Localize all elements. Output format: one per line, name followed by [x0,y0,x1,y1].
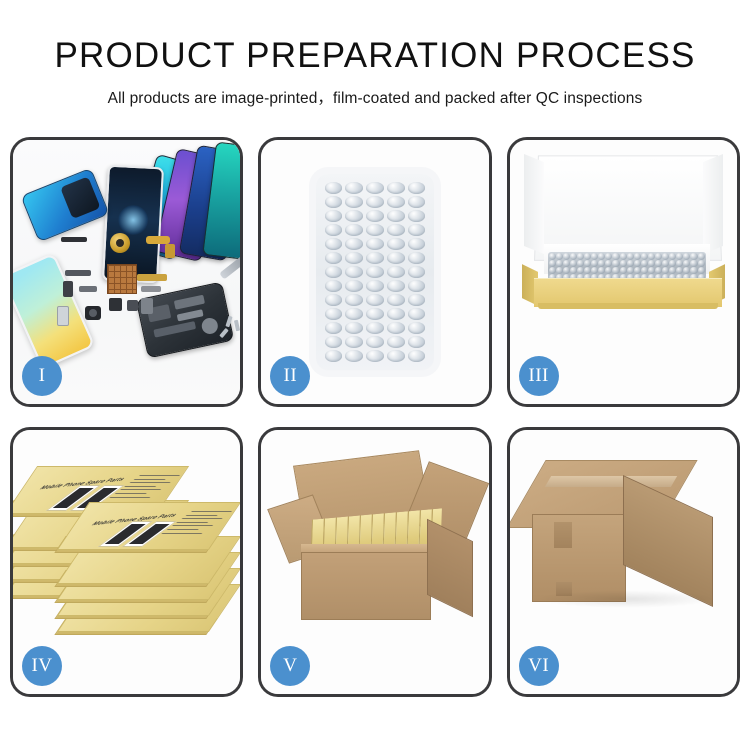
bubble-icon [365,209,386,223]
bubble-icon [385,293,406,307]
copper-mesh-part-icon [107,264,137,294]
carton-left-face-icon [532,514,626,602]
bubble-icon [365,251,386,265]
bubble-icon [627,267,634,274]
bubble-icon [406,251,427,265]
bubble-icon [549,260,556,267]
connector-part-icon [165,244,175,258]
bubble-icon [605,260,612,267]
bubble-icon [385,251,406,265]
sim-tray-part-icon [57,306,69,326]
product-preparation-infographic: PRODUCT PREPARATION PROCESS All products… [0,0,750,750]
bubble-icon [385,335,406,349]
bubble-icon [323,279,344,293]
bubble-icon [406,335,427,349]
bubble-icon [641,253,648,260]
antenna-part-icon [79,286,97,292]
bubble-icon [549,253,556,260]
bubble-icon [344,321,365,335]
chip-part-icon [109,298,122,311]
speaker-part-icon [61,237,87,242]
bubble-icon [323,321,344,335]
bubble-icon [365,307,386,321]
bubble-icon [365,223,386,237]
bubble-icon [556,260,563,267]
bubble-grid [323,181,427,363]
coil-part-icon [110,233,130,253]
bubble-icon [662,267,669,274]
bubble-icon [627,260,634,267]
flex-cable-part-icon [146,236,170,244]
bubble-icon [365,195,386,209]
bubble-icon [323,265,344,279]
bubble-icon [577,260,584,267]
bubble-icon [385,223,406,237]
bubble-icon [605,253,612,260]
process-step-panel-1: I [10,137,243,407]
bubble-icon [584,260,591,267]
bubble-icon [683,267,690,274]
bubble-icon [365,321,386,335]
bubble-icon [669,260,676,267]
page-title: PRODUCT PREPARATION PROCESS [0,0,750,75]
bubble-icon [323,307,344,321]
process-step-grid: I II [10,137,740,697]
camera-part-icon [85,306,101,320]
bubble-icon [323,209,344,223]
bubble-icon [669,267,676,274]
bubble-icon [620,253,627,260]
bubble-bundle-grid [549,253,705,281]
box-lid-right-flap-icon [703,154,723,254]
box-lid-left-flap-icon [524,154,544,254]
bubble-icon [620,260,627,267]
bubble-icon [556,253,563,260]
bubble-icon [365,335,386,349]
bubble-icon [669,253,676,260]
bubble-icon [323,335,344,349]
bubble-icon [549,267,556,274]
bubble-icon [563,267,570,274]
bubble-icon [406,181,427,195]
bubble-icon [570,267,577,274]
bubble-icon [385,195,406,209]
cable-part-icon [65,270,91,276]
flex-cable-long-part-icon [137,274,167,281]
bubble-icon [563,260,570,267]
box-bottom-edge-icon [538,303,718,309]
bubble-icon [406,349,427,363]
bubble-icon [323,223,344,237]
bubble-icon [570,253,577,260]
bubble-icon [344,223,365,237]
bubble-icon [676,260,683,267]
bubble-icon [598,260,605,267]
bubble-icon [323,181,344,195]
sealed-carton-icon [526,460,718,624]
bubble-icon [323,251,344,265]
bubble-icon [648,267,655,274]
carton-shadow [536,590,716,608]
bubble-icon [323,293,344,307]
bubble-icon [323,237,344,251]
bubble-icon [406,195,427,209]
bracket-part-icon [63,281,73,297]
bubble-icon [577,267,584,274]
bubble-icon [662,260,669,267]
bubble-icon [385,265,406,279]
bubble-icon [641,267,648,274]
bubble-icon [570,260,577,267]
bubble-icon [344,307,365,321]
bubble-icon [612,260,619,267]
process-step-panel-4: Mobile Phone Spare PartsMobile Phone Spa… [10,427,243,697]
bubble-icon [344,265,365,279]
module-part-icon [127,300,138,311]
bubble-icon [365,181,386,195]
step-badge-6: VI [519,646,559,686]
bubble-icon [344,195,365,209]
bubble-icon [385,307,406,321]
bubble-icon [406,279,427,293]
bubble-icon [556,267,563,274]
bubble-icon [612,267,619,274]
bubble-icon [690,267,697,274]
bubble-icon [605,267,612,274]
bubble-icon [344,279,365,293]
process-step-panel-6: VI [507,427,740,697]
bubble-icon [655,260,662,267]
bubble-icon [690,260,697,267]
process-step-panel-3: III [507,137,740,407]
bubble-icon [612,253,619,260]
bubble-icon [655,267,662,274]
bubble-icon [323,349,344,363]
bubble-icon [385,181,406,195]
bubble-icon [385,209,406,223]
ribbon-part-icon [141,286,161,292]
bubble-icon [406,223,427,237]
bubble-icon [406,293,427,307]
bubble-icon [344,181,365,195]
bubble-icon [406,265,427,279]
process-step-panel-2: II [258,137,491,407]
bubble-icon [365,279,386,293]
bubble-icon [584,253,591,260]
bubble-icon [406,237,427,251]
bubble-icon [634,267,641,274]
bubble-icon [698,260,705,267]
bubble-icon [683,260,690,267]
bubble-icon [591,253,598,260]
bubble-icon [385,321,406,335]
process-step-panel-5: V [258,427,491,697]
tape-strip-upper-icon [554,522,572,548]
step-badge-1: I [22,356,62,396]
bubble-icon [563,253,570,260]
bubble-icon [655,253,662,260]
open-carton-icon [275,456,471,628]
bubble-icon [385,349,406,363]
carton-front-face-icon [301,552,431,620]
bubble-icon [365,349,386,363]
bubble-icon [698,253,705,260]
bubble-icon [385,237,406,251]
retail-box-top: Mobile Phone Spare Parts [57,502,241,550]
bubble-icon [698,267,705,274]
bubble-icon [385,279,406,293]
bubble-icon [344,349,365,363]
bubble-icon [598,253,605,260]
retail-box-stack: Mobile Phone Spare PartsMobile Phone Spa… [21,452,229,622]
bubble-icon [406,209,427,223]
bubble-icon [690,253,697,260]
bubble-icon [648,260,655,267]
bubble-icon [323,195,344,209]
bubble-icon [634,260,641,267]
bubble-icon [344,335,365,349]
bubble-icon [406,307,427,321]
bubble-icon [591,267,598,274]
bubble-icon [641,260,648,267]
bubble-icon [365,293,386,307]
page-subtitle: All products are image-printed，film-coat… [0,75,750,108]
bubble-icon [598,267,605,274]
bubble-wrap-pouch-icon [316,174,434,370]
bubble-icon [591,260,598,267]
bubble-icon [365,237,386,251]
bubble-icon [406,321,427,335]
bubble-icon [676,267,683,274]
bubble-icon [648,253,655,260]
bubble-icon [365,265,386,279]
bubble-icon [577,253,584,260]
step-badge-3: III [519,356,559,396]
bubble-icon [620,267,627,274]
bubble-icon [676,253,683,260]
bubble-icon [344,251,365,265]
battery-part-icon [141,298,153,314]
bubble-icon [634,253,641,260]
packing-tape-icon [544,476,676,487]
bubble-icon [344,293,365,307]
bubble-icon [584,267,591,274]
bubble-icon [662,253,669,260]
bubble-icon [683,253,690,260]
bubble-icon [344,209,365,223]
bubble-icon [344,237,365,251]
bubble-icon [627,253,634,260]
step-badge-4: IV [22,646,62,686]
header: PRODUCT PREPARATION PROCESS All products… [0,0,750,108]
